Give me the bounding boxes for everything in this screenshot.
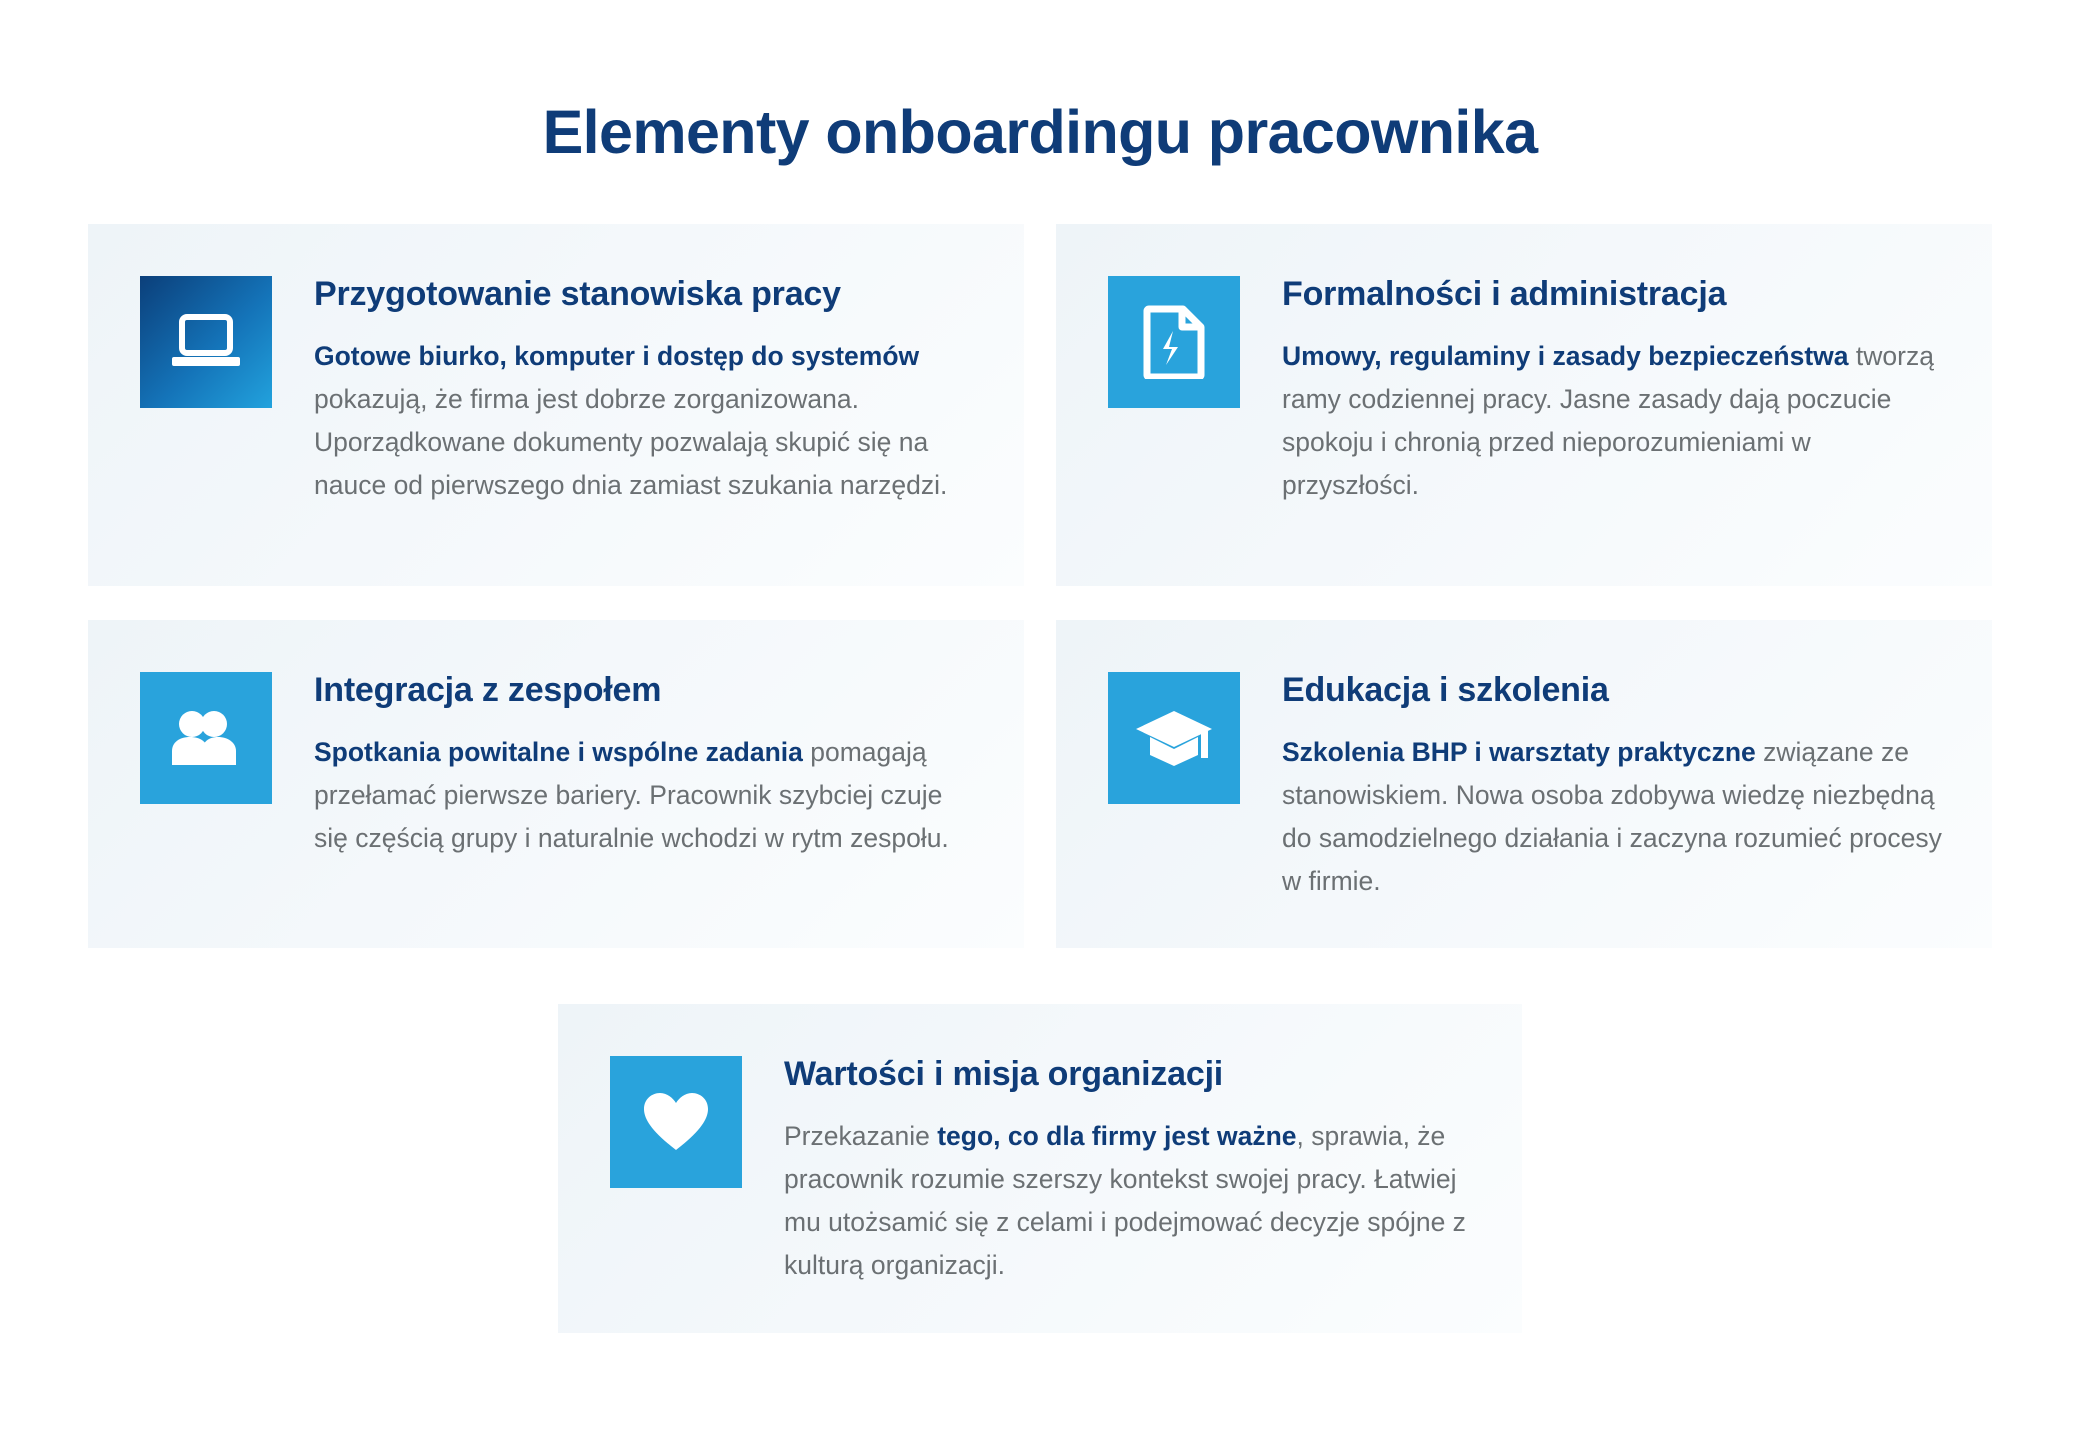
card-text-lead: Szkolenia BHP i warsztaty praktyczne <box>1282 737 1756 767</box>
card-text: Spotkania powitalne i wspólne zadania po… <box>314 731 980 860</box>
card-body: Integracja z zespołem Spotkania powitaln… <box>314 668 980 860</box>
card-text-prefix: Przekazanie <box>784 1121 937 1151</box>
heart-icon <box>640 1090 712 1154</box>
card-text: Gotowe biurko, komputer i dostęp do syst… <box>314 335 980 507</box>
card-heading: Wartości i misja organizacji <box>784 1054 1478 1095</box>
card-grid: Przygotowanie stanowiska pracy Gotowe bi… <box>0 224 2080 948</box>
page-title: Elementy onboardingu pracownika <box>0 41 2080 167</box>
card-heading: Przygotowanie stanowiska pracy <box>314 274 980 315</box>
card-text-lead: Umowy, regulaminy i zasady bezpieczeństw… <box>1282 341 1849 371</box>
document-icon-tile <box>1108 276 1240 408</box>
card-heading: Integracja z zespołem <box>314 670 980 711</box>
card-heading: Formalności i administracja <box>1282 274 1948 315</box>
laptop-icon <box>170 313 242 371</box>
card-heading: Edukacja i szkolenia <box>1282 670 1948 711</box>
heart-icon-tile <box>610 1056 742 1188</box>
graduation-cap-icon <box>1134 707 1214 769</box>
card-body: Przygotowanie stanowiska pracy Gotowe bi… <box>314 272 980 506</box>
card-przygotowanie-stanowiska-pracy: Przygotowanie stanowiska pracy Gotowe bi… <box>88 224 1024 586</box>
card-body: Edukacja i szkolenia Szkolenia BHP i war… <box>1282 668 1948 902</box>
card-edukacja-i-szkolenia: Edukacja i szkolenia Szkolenia BHP i war… <box>1056 620 1992 948</box>
card-text: Szkolenia BHP i warsztaty praktyczne zwi… <box>1282 731 1948 903</box>
card-body: Formalności i administracja Umowy, regul… <box>1282 272 1948 506</box>
card-text-lead: Gotowe biurko, komputer i dostęp do syst… <box>314 341 919 371</box>
card-text-emphasis: tego, co dla firmy jest ważne <box>937 1121 1296 1151</box>
card-integracja-z-zespolem: Integracja z zespołem Spotkania powitaln… <box>88 620 1024 948</box>
card-text-lead: Spotkania powitalne i wspólne zadania <box>314 737 803 767</box>
card-text-rest: pokazują, że firma jest dobrze zorganizo… <box>314 384 947 500</box>
people-icon <box>168 709 244 767</box>
card-wartosci-i-misja-organizacji: Wartości i misja organizacji Przekazanie… <box>558 1004 1522 1332</box>
card-text: Umowy, regulaminy i zasady bezpieczeństw… <box>1282 335 1948 507</box>
laptop-icon-tile <box>140 276 272 408</box>
infographic-page: Elementy onboardingu pracownika Przygoto… <box>0 41 2080 1429</box>
graduation-cap-icon-tile <box>1108 672 1240 804</box>
card-body: Wartości i misja organizacji Przekazanie… <box>784 1052 1478 1286</box>
card-text: Przekazanie tego, co dla firmy jest ważn… <box>784 1115 1478 1287</box>
document-icon <box>1143 305 1205 379</box>
card-formalnosci-i-administracja: Formalności i administracja Umowy, regul… <box>1056 224 1992 586</box>
card-grid-bottom: Wartości i misja organizacji Przekazanie… <box>0 1004 2080 1332</box>
people-icon-tile <box>140 672 272 804</box>
